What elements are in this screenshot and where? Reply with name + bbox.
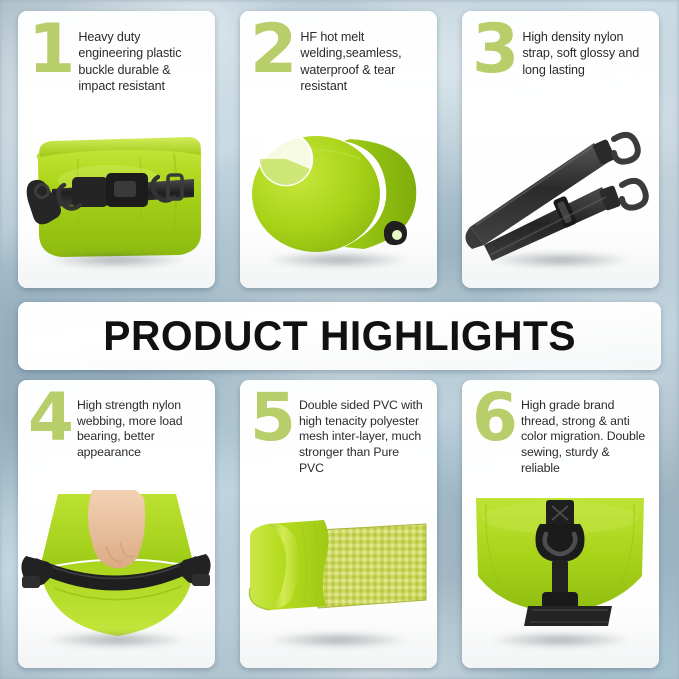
welded-seam-bag-photo [240, 115, 437, 288]
photo-shadow [46, 632, 188, 648]
feature-header-4: 4 High strength nylon webbing, more load… [18, 380, 215, 488]
feature-card-4: 4 High strength nylon webbing, more load… [18, 380, 215, 668]
feature-number-6: 6 [472, 392, 516, 443]
feature-number-1: 1 [28, 23, 73, 76]
feature-header-3: 3 High density nylon strap, soft glossy … [462, 11, 659, 119]
photo-shadow [46, 252, 188, 268]
feature-number-2: 2 [250, 23, 295, 76]
feature-card-3: 3 High density nylon strap, soft glossy … [462, 11, 659, 288]
feature-card-2: 2 HF hot melt welding,seamless, waterpro… [240, 11, 437, 288]
feature-caption-6: High grade brand thread, strong & anti c… [521, 394, 647, 477]
nylon-shoulder-strap-photo [462, 115, 659, 288]
feature-header-5: 5 Double sided PVC with high tenacity po… [240, 380, 437, 488]
feature-card-1: 1 Heavy duty engineering plastic buckle … [18, 11, 215, 288]
dry-bag-with-buckle-photo [18, 115, 215, 288]
feature-header-1: 1 Heavy duty engineering plastic buckle … [18, 11, 215, 119]
feature-caption-2: HF hot melt welding,seamless, waterproof… [300, 25, 425, 94]
feature-header-2: 2 HF hot melt welding,seamless, waterpro… [240, 11, 437, 119]
feature-card-6: 6 High grade brand thread, strong & anti… [462, 380, 659, 668]
feature-caption-1: Heavy duty engineering plastic buckle du… [78, 25, 203, 94]
product-highlights-banner: PRODUCT HIGHLIGHTS [18, 302, 661, 370]
feature-caption-4: High strength nylon webbing, more load b… [77, 394, 203, 461]
photo-shadow [268, 252, 410, 268]
d-ring-stitching-detail-photo [462, 484, 659, 668]
feature-number-4: 4 [28, 392, 72, 443]
feature-caption-5: Double sided PVC with high tenacity poly… [299, 394, 425, 477]
feature-number-5: 5 [250, 392, 294, 443]
feature-number-3: 3 [472, 23, 517, 76]
feature-card-5: 5 Double sided PVC with high tenacity po… [240, 380, 437, 668]
feature-caption-3: High density nylon strap, soft glossy an… [522, 25, 647, 78]
photo-shadow [268, 632, 410, 648]
photo-shadow [490, 252, 632, 268]
pvc-mesh-material-roll-photo [240, 484, 437, 668]
feature-header-6: 6 High grade brand thread, strong & anti… [462, 380, 659, 488]
hand-holding-webbing-handle-photo [18, 484, 215, 668]
photo-shadow [490, 632, 632, 648]
banner-title: PRODUCT HIGHLIGHTS [103, 312, 576, 360]
